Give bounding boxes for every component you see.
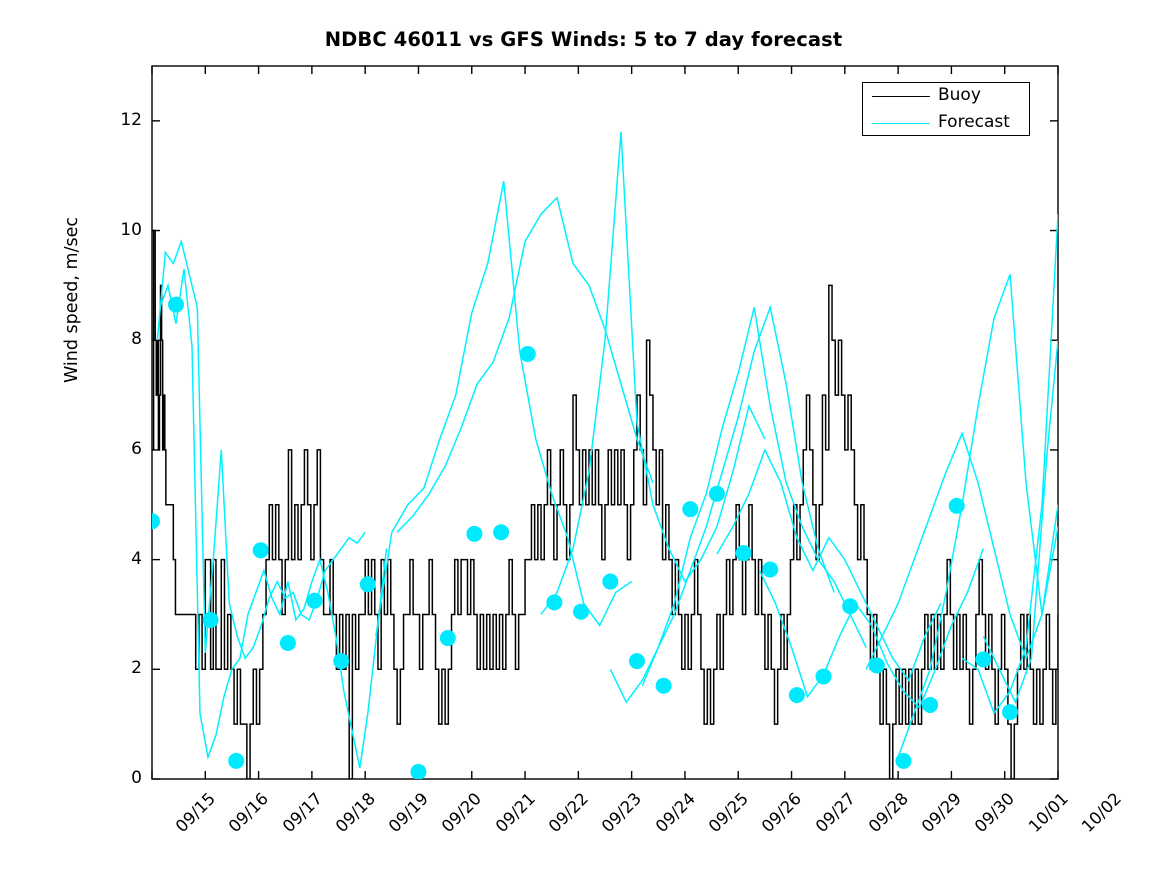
series-line bbox=[717, 450, 941, 680]
legend-label: Buoy bbox=[938, 85, 981, 105]
legend-item: Buoy bbox=[863, 83, 1031, 110]
y-tick-label: 10 bbox=[100, 220, 142, 240]
y-tick-label: 4 bbox=[100, 549, 142, 569]
y-tick-label: 8 bbox=[100, 329, 142, 349]
series-line bbox=[642, 307, 866, 685]
forecast-marker bbox=[816, 668, 832, 684]
legend-item: Forecast bbox=[863, 110, 1031, 137]
series-line bbox=[157, 242, 365, 659]
forecast-marker bbox=[144, 513, 160, 529]
forecast-marker bbox=[573, 604, 589, 620]
forecast-marker bbox=[842, 598, 858, 614]
series-line bbox=[866, 433, 1058, 669]
y-axis-label: Wind speed, m/sec bbox=[62, 170, 82, 430]
forecast-marker bbox=[895, 753, 911, 769]
forecast-marker bbox=[440, 630, 456, 646]
forecast-marker bbox=[975, 651, 991, 667]
forecast-marker bbox=[762, 561, 778, 577]
forecast-marker bbox=[709, 486, 725, 502]
chart-figure: NDBC 46011 vs GFS Winds: 5 to 7 day fore… bbox=[0, 0, 1167, 875]
chart-legend: BuoyForecast bbox=[862, 82, 1030, 136]
forecast-marker bbox=[546, 594, 562, 610]
series-line bbox=[152, 231, 1058, 779]
forecast-marker bbox=[466, 526, 482, 542]
y-tick-label: 0 bbox=[100, 768, 142, 788]
forecast-marker bbox=[1002, 704, 1018, 720]
forecast-marker bbox=[228, 753, 244, 769]
forecast-marker bbox=[869, 657, 885, 673]
forecast-marker bbox=[629, 653, 645, 669]
forecast-marker bbox=[736, 545, 752, 561]
forecast-marker bbox=[520, 346, 536, 362]
y-tick-label: 2 bbox=[100, 658, 142, 678]
series-line bbox=[541, 132, 765, 615]
forecast-marker bbox=[493, 524, 509, 540]
legend-line-swatch bbox=[872, 123, 930, 124]
forecast-marker bbox=[949, 498, 965, 514]
forecast-marker bbox=[602, 574, 618, 590]
forecast-marker bbox=[280, 635, 296, 651]
forecast-marker bbox=[253, 542, 269, 558]
forecast-marker bbox=[168, 297, 184, 313]
series-group bbox=[144, 132, 1058, 780]
forecast-marker bbox=[203, 612, 219, 628]
forecast-marker bbox=[922, 697, 938, 713]
series-line bbox=[376, 181, 632, 636]
forecast-marker bbox=[789, 687, 805, 703]
legend-line-swatch bbox=[872, 96, 930, 97]
legend-label: Forecast bbox=[938, 112, 1010, 132]
forecast-marker bbox=[682, 501, 698, 517]
forecast-marker bbox=[410, 764, 426, 780]
forecast-marker bbox=[656, 678, 672, 694]
y-tick-label: 6 bbox=[100, 439, 142, 459]
y-tick-label: 12 bbox=[100, 110, 142, 130]
forecast-marker bbox=[333, 653, 349, 669]
forecast-marker bbox=[360, 576, 376, 592]
forecast-marker bbox=[307, 593, 323, 609]
